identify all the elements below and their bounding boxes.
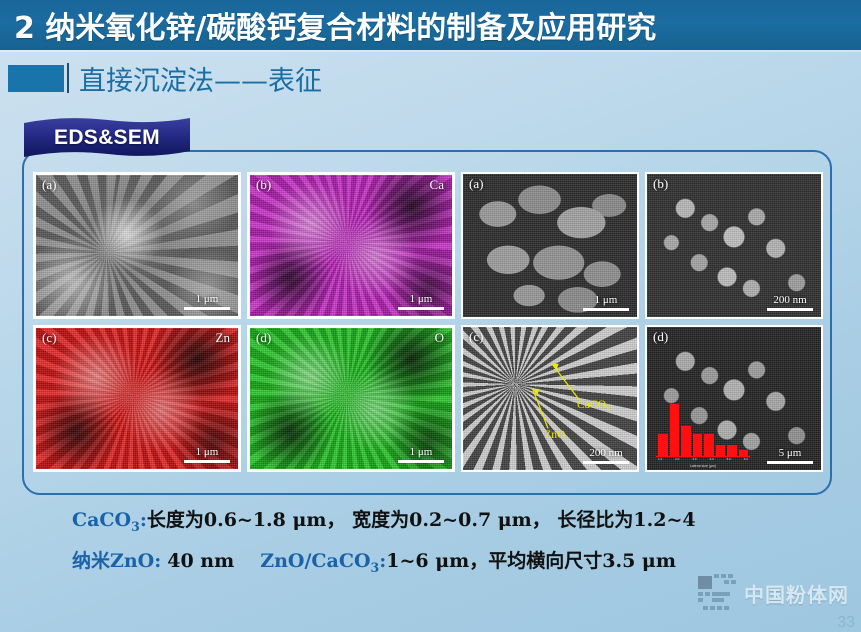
panel-label: (b)	[653, 176, 668, 192]
watermark: 中国粉体网	[698, 574, 849, 612]
particle-size-histogram: 1.02.03.04.05.06.0 Lateral size (μm)	[654, 400, 752, 466]
scale-bar-line	[398, 307, 444, 310]
histogram-bar	[670, 404, 680, 456]
scale-bar: 5 μm	[767, 447, 813, 464]
histogram-tick: 4.0	[709, 457, 713, 463]
subtitle-bullet-square	[8, 65, 64, 92]
slide-root: 2 纳米氧化锌/碳酸钙复合材料的制备及应用研究 直接沉淀法——表征 EDS&SE…	[0, 0, 861, 632]
nano-zno-label: 纳米ZnO:	[72, 546, 161, 573]
scale-bar: 1 μm	[583, 294, 629, 311]
scale-bar: 1 μm	[398, 446, 444, 463]
histogram-bar	[693, 434, 703, 456]
histogram-tick-labels: 1.02.03.04.05.06.0	[658, 457, 748, 463]
sem-panel-c[interactable]: (c) CaCO₃ ZnO 200 nm	[461, 325, 639, 472]
arrow-line-caco3	[552, 364, 579, 400]
scale-bar-text: 1 μm	[410, 446, 433, 458]
panel-label: (b)	[256, 177, 271, 193]
scale-bar-line	[398, 460, 444, 463]
conclusion-line-2: 纳米ZnO: 40 nm ZnO/CaCO3: 1~6 μm，平均横向尺寸3.5…	[0, 546, 861, 575]
element-label: Zn	[216, 330, 230, 346]
scale-bar-line	[184, 307, 230, 310]
histogram-tick: 3.0	[692, 457, 696, 463]
scale-bar-text: 1 μm	[196, 446, 219, 458]
subtitle-row: 直接沉淀法——表征	[0, 56, 861, 100]
scale-bar-text: 1 μm	[410, 293, 433, 305]
histogram-bar	[681, 426, 691, 456]
sem-panel-a[interactable]: (a) 1 μm	[461, 172, 639, 319]
element-label: Ca	[430, 177, 444, 193]
eds-panel-c[interactable]: (c) Zn 1 μm	[33, 325, 241, 472]
sem-panel-d[interactable]: (d) 1.02.03.04.05.06.0 Lateral size (μm)…	[645, 325, 823, 472]
panel-label: (a)	[42, 177, 56, 193]
scale-bar: 1 μm	[184, 446, 230, 463]
scale-bar-text: 1 μm	[595, 294, 618, 306]
caco3-label: CaCO3:	[72, 509, 147, 534]
eds-panel-a[interactable]: (a) 1 μm	[33, 172, 241, 319]
histogram-bar	[716, 445, 726, 456]
panel-label: (d)	[653, 329, 668, 345]
eds-panel-d[interactable]: (d) O 1 μm	[247, 325, 455, 472]
scale-bar-text: 200 nm	[773, 294, 806, 306]
image-panels-area: (a) 1 μm (b) Ca 1 μm (c	[33, 172, 825, 472]
eds-panel-b[interactable]: (b) Ca 1 μm	[247, 172, 455, 319]
scale-bar: 1 μm	[184, 293, 230, 310]
element-label: O	[435, 330, 444, 346]
subtitle-divider	[67, 63, 69, 93]
page-number: 33	[837, 614, 855, 632]
scale-bar: 1 μm	[398, 293, 444, 310]
sem-panel-b[interactable]: (b) 200 nm	[645, 172, 823, 319]
conclusion-line-1-text: 长度为0.6~1.8 μm， 宽度为0.2~0.7 μm， 长径比为1.2~4	[147, 505, 696, 532]
histogram-bars	[658, 404, 748, 456]
annotation-label-caco3: CaCO₃	[577, 398, 610, 411]
histogram-bar	[658, 434, 668, 456]
sem-panel-group: (a) 1 μm (b) 200 nm (c)	[461, 172, 823, 472]
scale-bar-line	[184, 460, 230, 463]
scale-bar-text: 1 μm	[196, 293, 219, 305]
slide-title-band: 2 纳米氧化锌/碳酸钙复合材料的制备及应用研究	[0, 0, 861, 50]
section-ribbon-label: EDS&SEM	[24, 117, 190, 159]
zno-caco3-value: 1~6 μm，平均横向尺寸3.5 μm	[386, 546, 676, 573]
scale-bar-line	[767, 308, 813, 311]
histogram-x-label: Lateral size (μm)	[654, 464, 752, 468]
zno-caco3-label: ZnO/CaCO3:	[260, 550, 386, 575]
arrow-line-zno	[533, 389, 548, 429]
conclusion-line-1: CaCO3: 长度为0.6~1.8 μm， 宽度为0.2~0.7 μm， 长径比…	[0, 505, 861, 534]
histogram-tick: 2.0	[675, 457, 679, 463]
histogram-bar	[704, 434, 714, 456]
panel-label: (c)	[42, 330, 56, 346]
scale-bar: 200 nm	[767, 294, 813, 311]
histogram-bar	[727, 445, 737, 456]
annotation-arrows: CaCO₃ ZnO	[463, 327, 637, 469]
watermark-logo-icon	[698, 574, 740, 612]
page-title: 2 纳米氧化锌/碳酸钙复合材料的制备及应用研究	[0, 3, 656, 47]
scale-bar-line	[767, 461, 813, 464]
histogram-tick: 1.0	[658, 457, 662, 463]
panel-label: (d)	[256, 330, 271, 346]
nano-zno-value: 40 nm	[167, 550, 234, 572]
watermark-text: 中国粉体网	[744, 579, 849, 608]
annotation-label-zno: ZnO	[544, 428, 565, 441]
scale-bar-text: 5 μm	[779, 447, 802, 459]
panel-label: (a)	[469, 176, 483, 192]
histogram-tick: 6.0	[744, 457, 748, 463]
section-ribbon: EDS&SEM	[24, 117, 190, 159]
scale-bar-line	[583, 308, 629, 311]
histogram-tick: 5.0	[727, 457, 731, 463]
eds-panel-group: (a) 1 μm (b) Ca 1 μm (c	[33, 172, 455, 472]
subtitle-text: 直接沉淀法——表征	[79, 59, 322, 98]
